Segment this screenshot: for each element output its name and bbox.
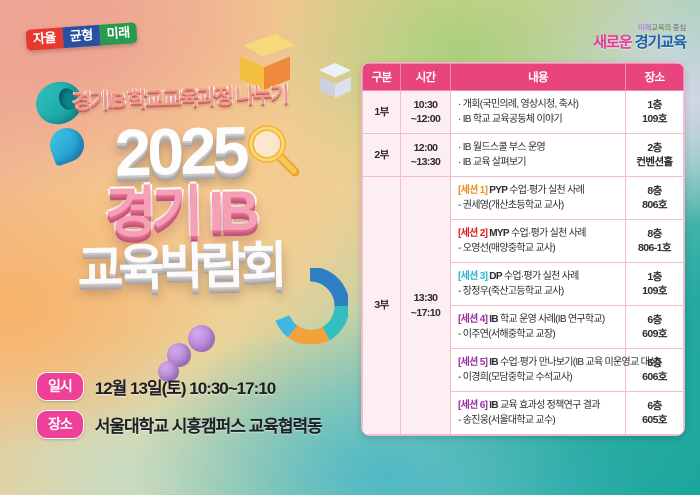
session-place-room: 109호 (627, 284, 682, 298)
session-tag: [세션 6] (458, 400, 487, 411)
header-gubun: 구분 (363, 64, 401, 91)
row-time: 12:00 ~13:30 (401, 134, 451, 177)
session-place: 6층 609호 (626, 306, 684, 349)
header-time: 시간 (401, 64, 451, 91)
row-place: 1층 109호 (626, 91, 684, 134)
row-time-start: 12:00 (402, 141, 449, 155)
session-presenter: - 오영선(매양중학교 교사) (458, 241, 618, 256)
row-gubun: 1부 (363, 91, 401, 134)
row-content-line-2: · IB 학교 교육공동체 이야기 (458, 112, 618, 127)
session-tag: [세션 1] (458, 185, 487, 196)
session-keyword: IB (489, 314, 498, 325)
row-time-end: ~13:30 (402, 155, 449, 169)
row-time-start: 10:30 (402, 98, 449, 112)
event-subtitle: 경기IB 학교교육과정 나누기 (0, 82, 360, 116)
row-gubun: 2부 (363, 134, 401, 177)
session-content: [세션 5] IB 수업·평가 만나보기(IB 교육 미운영교 대상) - 이경… (451, 349, 626, 392)
session-place: 8층 806-1호 (626, 220, 684, 263)
logo-subtitle: 미래교육의 중심 (593, 24, 686, 33)
session-content: [세션 3] DP 수업·평가 실천 사례 - 장정우(죽산고등학교 교사) (451, 263, 626, 306)
gyeonggi-education-logo: 미래교육의 중심 새로운 경기교육 (593, 24, 686, 51)
part3-time-start: 13:30 (402, 291, 449, 305)
row-time-end: ~12:00 (402, 112, 449, 126)
session-presenter: - 송진웅(서울대학교 교수) (458, 413, 618, 428)
session-presenter: - 장정우(죽산고등학교 교사) (458, 284, 618, 299)
session-tag: [세션 3] (458, 271, 487, 282)
event-venue-label: 장소 (36, 410, 84, 439)
logo-main: 새로운 경기교육 (593, 34, 686, 51)
magnifier-icon (245, 123, 299, 177)
part3-gubun: 3부 (363, 177, 401, 435)
session-place-room: 605호 (627, 413, 682, 427)
event-date-label: 일시 (36, 372, 84, 401)
session-tag: [세션 4] (458, 314, 487, 325)
session-place-floor: 8층 (627, 184, 682, 198)
session-place-room: 806호 (627, 198, 682, 212)
poster-headline-block: 경기IB 학교교육과정 나누기 2025 경기 IB 교육박람회 (0, 88, 360, 292)
header-place: 장소 (626, 64, 684, 91)
row-content: · IB 월드스쿨 부스 운영 · IB 교육 살펴보기 (451, 134, 626, 177)
row-place: 2층 컨벤션홀 (626, 134, 684, 177)
session-title-line: [세션 5] IB 수업·평가 만나보기(IB 교육 미운영교 대상) (458, 355, 618, 370)
session-title: 수업·평가 만나보기(IB 교육 미운영교 대상) (498, 357, 660, 368)
row-content-line-1: · 개회(국민의례, 영상시청, 축사) (458, 97, 618, 112)
row-content: · 개회(국민의례, 영상시청, 축사) · IB 학교 교육공동체 이야기 (451, 91, 626, 134)
session-title-line: [세션 1] PYP 수업·평가 실천 사례 (458, 183, 618, 198)
row-content-line-2: · IB 교육 살펴보기 (458, 155, 618, 170)
session-place-room: 609호 (627, 327, 682, 341)
event-info-block: 일시 12월 13일(토) 10:30~17:10 장소 서울대학교 시흥캠퍼스… (36, 372, 356, 448)
year-row: 2025 (0, 115, 360, 187)
session-title: 학교 운영 사례(IB 연구학교) (498, 314, 605, 325)
session-content: [세션 6] IB 교육 효과성 정책연구 결과 - 송진웅(서울대학교 교수) (451, 392, 626, 435)
session-place: 6층 606호 (626, 349, 684, 392)
session-place-floor: 8층 (627, 227, 682, 241)
session-presenter: - 이주연(서해중학교 교장) (458, 327, 618, 342)
session-keyword: MYP (489, 228, 509, 239)
table-row: 3부 13:30 ~17:10 [세션 1] PYP 수업·평가 실천 사례 -… (363, 177, 684, 220)
session-place-floor: 6층 (627, 313, 682, 327)
row-place-floor: 1층 (627, 98, 682, 112)
row-place-room: 컨벤션홀 (627, 155, 682, 169)
session-keyword: IB (489, 357, 498, 368)
event-date-value: 12월 13일(토) 10:30~17:10 (95, 374, 275, 399)
schedule-card: 구분 시간 내용 장소 1부 10:30 ~12:00 · 개회(국민의례, 영… (361, 62, 685, 436)
part3-time-end: ~17:10 (402, 306, 449, 320)
session-title-line: [세션 3] DP 수업·평가 실천 사례 (458, 269, 618, 284)
logo-main-word-1: 새로운 (593, 34, 631, 51)
session-title: 교육 효과성 정책연구 결과 (498, 400, 600, 411)
schedule-table: 구분 시간 내용 장소 1부 10:30 ~12:00 · 개회(국민의례, 영… (362, 63, 684, 435)
session-keyword: PYP (489, 185, 507, 196)
logo-main-word-2: 경기교육 (635, 34, 686, 51)
session-content: [세션 1] PYP 수업·평가 실천 사례 - 권세영(개산초등학교 교사) (451, 177, 626, 220)
session-place: 6층 605호 (626, 392, 684, 435)
table-row: 1부 10:30 ~12:00 · 개회(국민의례, 영상시청, 축사) · I… (363, 91, 684, 134)
brand-badge-word-2: 균형 (62, 25, 100, 49)
header-content: 내용 (451, 64, 626, 91)
logo-subtitle-word-1: 미래 (638, 23, 651, 32)
session-title-line: [세션 6] IB 교육 효과성 정책연구 결과 (458, 398, 618, 413)
session-place: 1층 109호 (626, 263, 684, 306)
session-content: [세션 2] MYP 수업·평가 실천 사례 - 오영선(매양중학교 교사) (451, 220, 626, 263)
brand-badge-word-3: 미래 (99, 22, 137, 46)
row-content-line-1: · IB 월드스쿨 부스 운영 (458, 140, 618, 155)
session-place-floor: 1층 (627, 270, 682, 284)
row-place-floor: 2층 (627, 141, 682, 155)
schedule-header-row: 구분 시간 내용 장소 (363, 64, 684, 91)
session-content: [세션 4] IB 학교 운영 사례(IB 연구학교) - 이주연(서해중학교 … (451, 306, 626, 349)
session-title: 수업·평가 실천 사례 (502, 271, 579, 282)
row-time: 10:30 ~12:00 (401, 91, 451, 134)
event-date-row: 일시 12월 13일(토) 10:30~17:10 (36, 372, 356, 401)
session-presenter: - 이경희(모담중학교 수석교사) (458, 370, 618, 385)
session-tag: [세션 5] (458, 357, 487, 368)
session-keyword: DP (489, 271, 502, 282)
session-place: 8층 806호 (626, 177, 684, 220)
session-tag: [세션 2] (458, 228, 487, 239)
session-presenter: - 권세영(개산초등학교 교사) (458, 198, 618, 213)
part3-time: 13:30 ~17:10 (401, 177, 451, 435)
session-keyword: IB (489, 400, 498, 411)
session-place-room: 806-1호 (627, 241, 682, 255)
poster-title-main: 경기 IB (0, 182, 360, 243)
logo-subtitle-word-2: 교육의 (651, 23, 671, 32)
event-venue-row: 장소 서울대학교 시흥캠퍼스 교육협력동 (36, 410, 356, 439)
poster-title-sub: 교육박람회 (0, 239, 360, 295)
session-place-room: 606호 (627, 370, 682, 384)
session-title: 수업·평가 실천 사례 (509, 228, 586, 239)
brand-badge-word-1: 자율 (25, 27, 63, 51)
logo-subtitle-word-3: 중심 (673, 23, 686, 32)
session-title: 수업·평가 실천 사례 (507, 185, 584, 196)
event-venue-value: 서울대학교 시흥캠퍼스 교육협력동 (95, 412, 322, 437)
row-place-room: 109호 (627, 112, 682, 126)
brand-badge: 자율 균형 미래 (25, 22, 137, 51)
session-title-line: [세션 4] IB 학교 운영 사례(IB 연구학교) (458, 312, 618, 327)
session-place-floor: 6층 (627, 399, 682, 413)
session-title-line: [세션 2] MYP 수업·평가 실천 사례 (458, 226, 618, 241)
table-row: 2부 12:00 ~13:30 · IB 월드스쿨 부스 운영 · IB 교육 … (363, 134, 684, 177)
